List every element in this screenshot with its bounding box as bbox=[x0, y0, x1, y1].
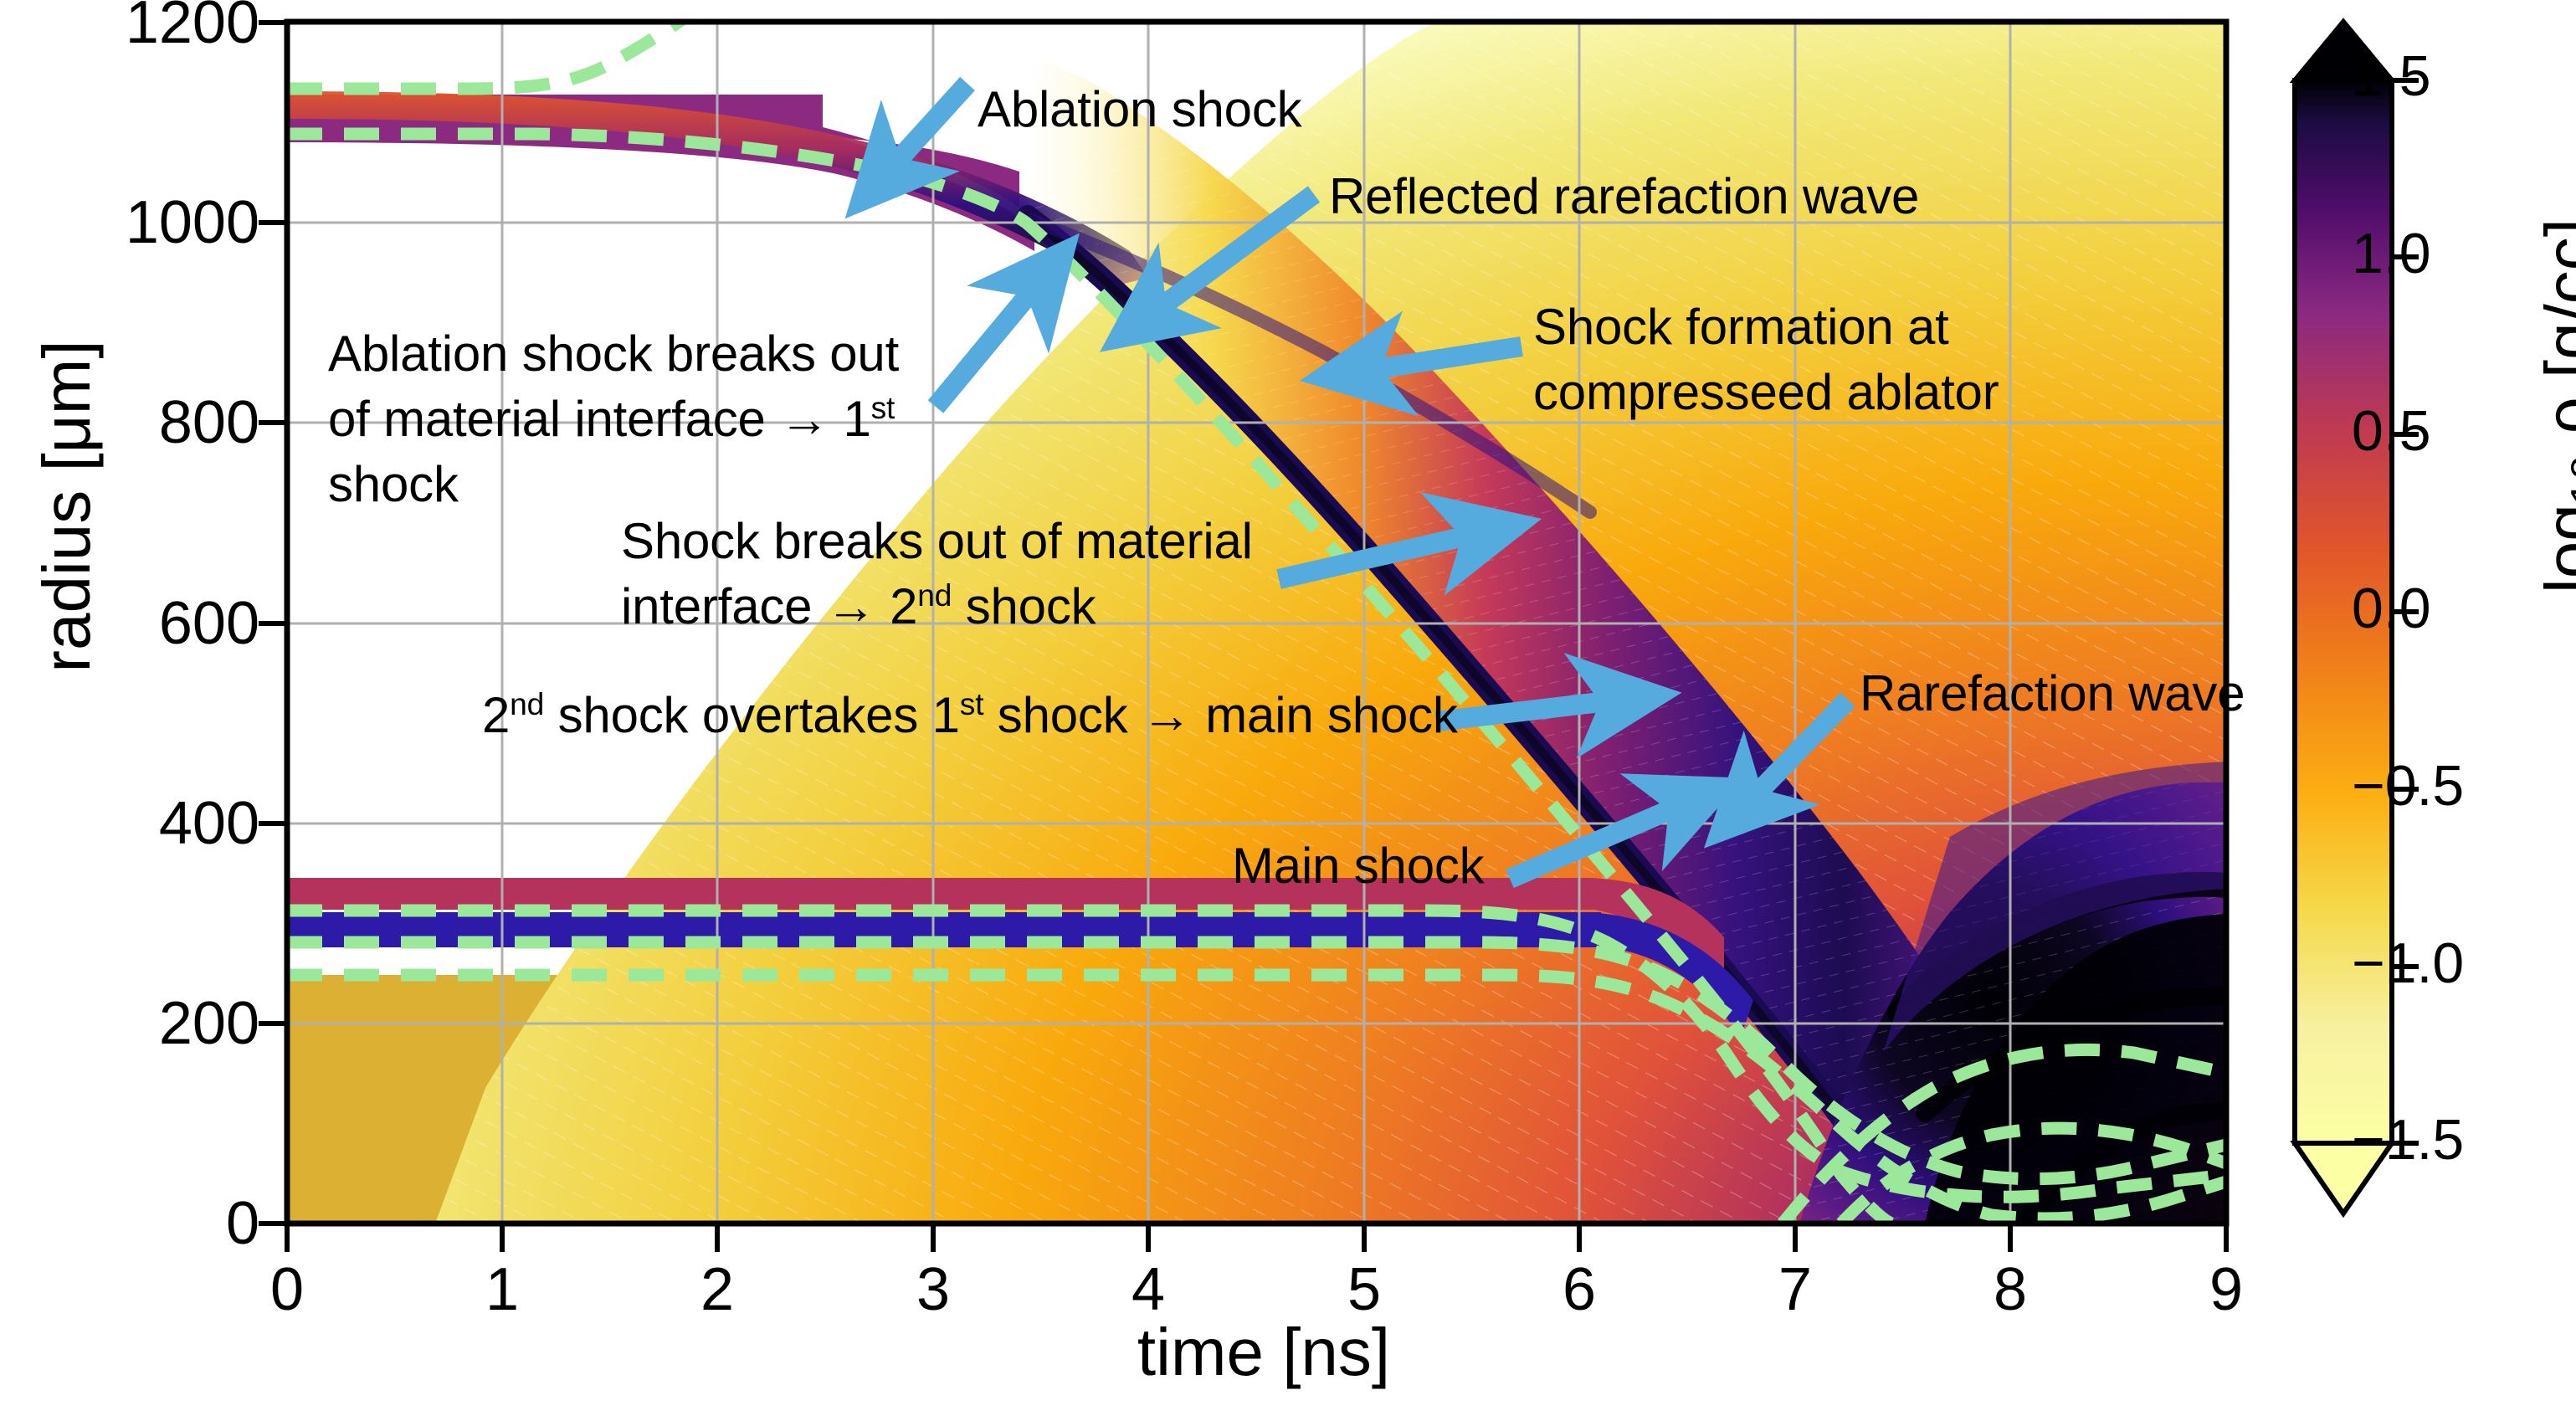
y-tick-0: 0 bbox=[226, 1189, 259, 1258]
y-tick-600: 600 bbox=[159, 589, 259, 658]
ann2-line-1: Shock breaks out of material bbox=[621, 513, 1253, 569]
annotation-shock-formation-compressed-ablator: Shock formation at compresseed ablator bbox=[1533, 295, 1999, 425]
x-tick-3: 3 bbox=[883, 1255, 983, 1324]
colorbar-label: log₁₀ ρ [g/cc] bbox=[2532, 146, 2576, 665]
cb-tick--0.5: −0.5 bbox=[2352, 753, 2464, 818]
cb-tick-1.0: 1.0 bbox=[2352, 221, 2431, 286]
annotation-rarefaction-wave: Rarefaction wave bbox=[1860, 661, 2245, 726]
superscript-nd-2: nd bbox=[510, 686, 544, 721]
superscript-st: st bbox=[871, 390, 895, 425]
superscript-st-2: st bbox=[960, 686, 984, 721]
x-tick-9: 9 bbox=[2176, 1255, 2276, 1324]
cb-tick--1.0: −1.0 bbox=[2352, 931, 2464, 996]
annotation-ablation-shock: Ablation shock bbox=[978, 77, 1301, 142]
x-tick-7: 7 bbox=[1745, 1255, 1845, 1324]
x-tick-0: 0 bbox=[237, 1255, 337, 1324]
x-tick-2: 2 bbox=[667, 1255, 767, 1324]
annotation-main-shock: Main shock bbox=[1232, 834, 1484, 899]
x-tick-1: 1 bbox=[452, 1255, 552, 1324]
x-axis-label: time [ns] bbox=[921, 1314, 1607, 1391]
ann-line-1: Ablation shock breaks out bbox=[328, 326, 899, 382]
annotation-second-overtakes-first: 2nd shock overtakes 1st shock → main sho… bbox=[482, 683, 1458, 748]
ann-line-2: of material interface → 1st bbox=[328, 391, 895, 447]
y-tick-400: 400 bbox=[159, 789, 259, 858]
annotation-shock-breakout-second: Shock breaks out of materialinterface → … bbox=[621, 509, 1274, 639]
x-tick-5: 5 bbox=[1314, 1255, 1414, 1324]
cb-tick-0.0: 0.0 bbox=[2352, 576, 2431, 641]
x-tick-8: 8 bbox=[1960, 1255, 2060, 1324]
y-tick-200: 200 bbox=[159, 989, 259, 1058]
x-tick-4: 4 bbox=[1098, 1255, 1198, 1324]
ann-line-3: shock bbox=[328, 456, 459, 512]
cb-tick-0.5: 0.5 bbox=[2352, 398, 2431, 464]
annotation-reflected-rarefaction-wave: Reflected rarefaction wave bbox=[1329, 164, 1919, 229]
y-tick-1200: 1200 bbox=[126, 0, 259, 57]
cb-tick--1.5: −1.5 bbox=[2352, 1107, 2464, 1172]
x-tick-6: 6 bbox=[1529, 1255, 1629, 1324]
ann2-line-2: interface → 2nd shock bbox=[621, 578, 1096, 634]
cb-tick-1.5: 1.5 bbox=[2352, 44, 2431, 109]
y-tick-800: 800 bbox=[159, 388, 259, 457]
superscript-nd: nd bbox=[917, 577, 952, 613]
y-tick-1000: 1000 bbox=[126, 188, 259, 257]
annotation-ablation-shock-breakout: Ablation shock breaks outof material int… bbox=[328, 321, 922, 517]
